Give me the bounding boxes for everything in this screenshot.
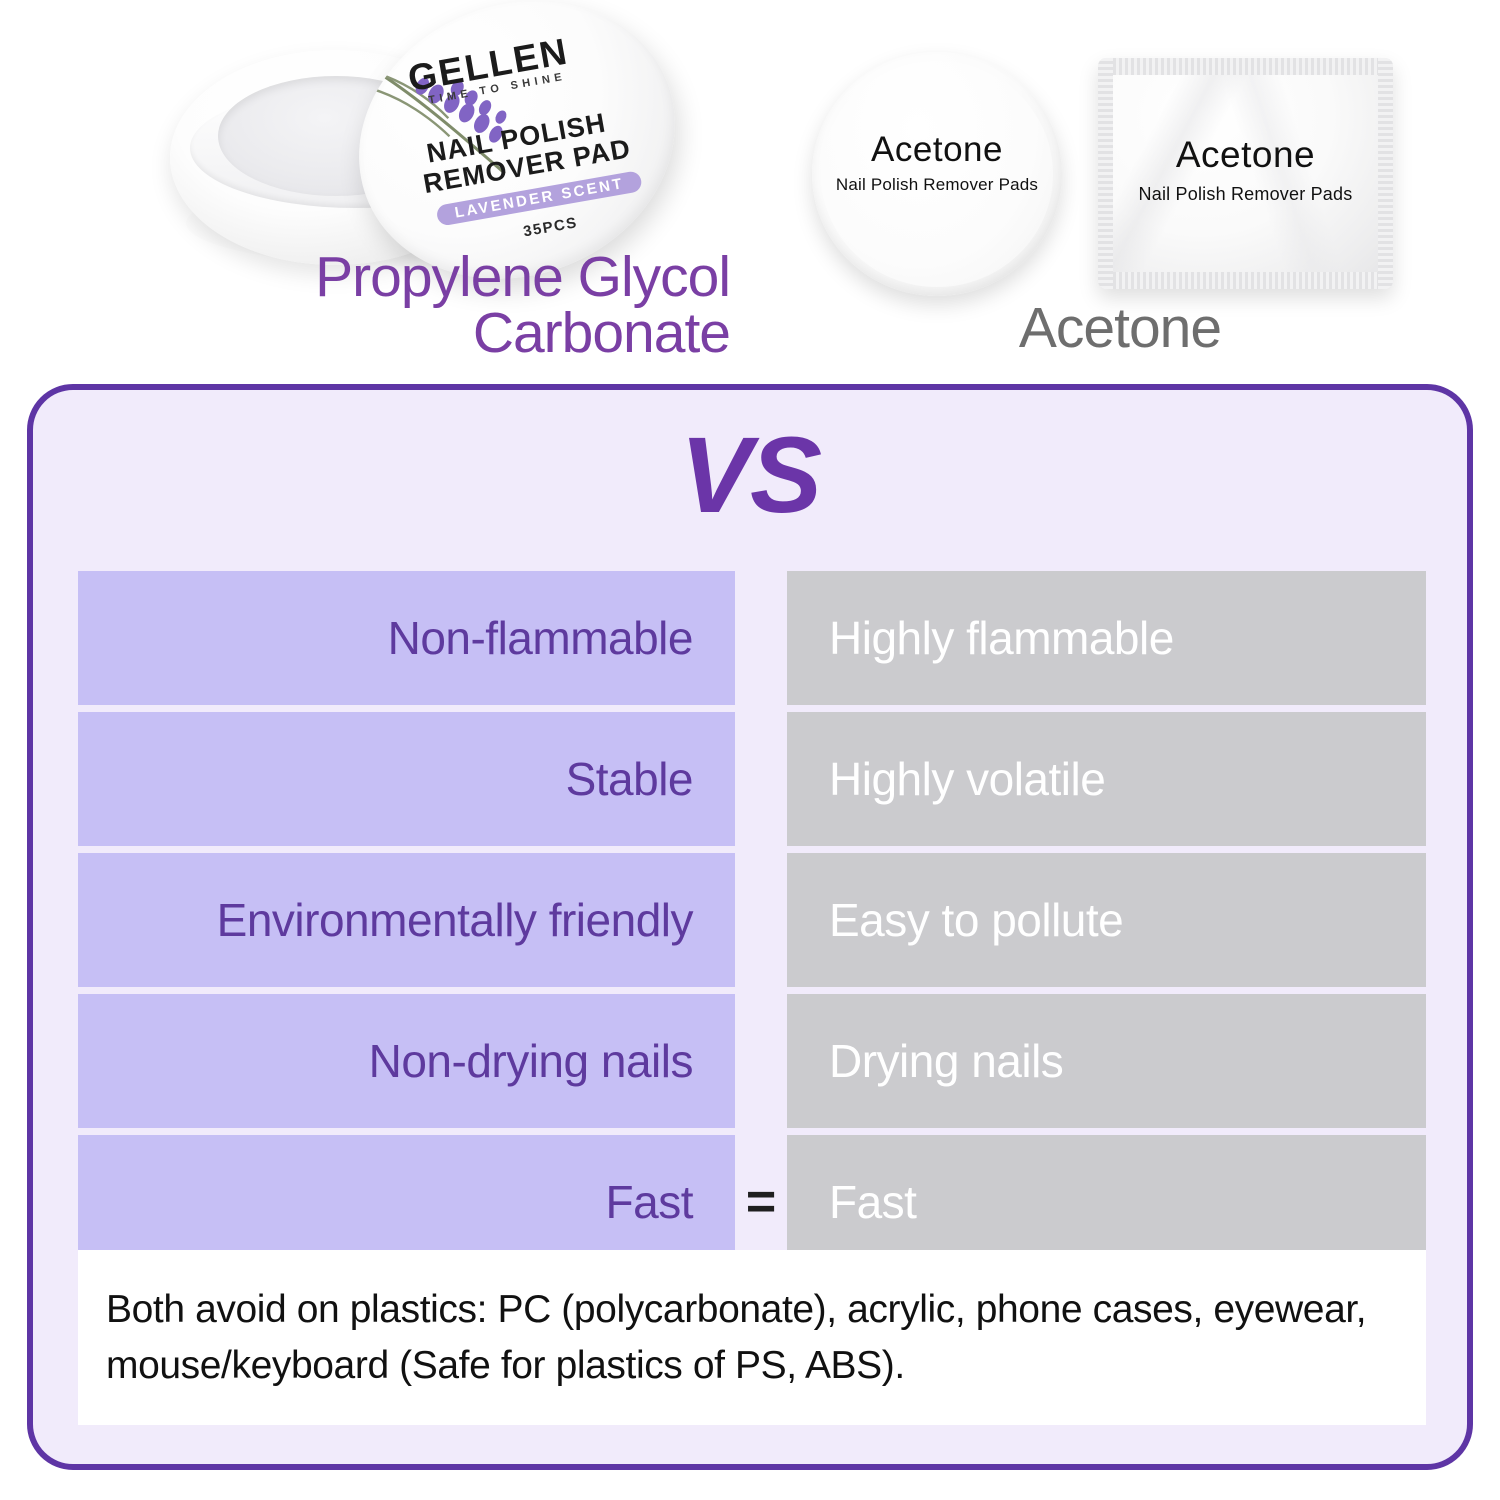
row-gap [735,853,787,987]
row-gap [735,994,787,1128]
acetone-round-jar-image: Acetone Nail Polish Remover Pads [812,52,1062,296]
row-left-cell: Environmentally friendly [78,853,735,987]
row-left-cell: Non-drying nails [78,994,735,1128]
comparison-table: Non-flammable Highly flammable Stable Hi… [78,571,1426,1269]
heading-propylene-glycol-carbonate: Propylene Glycol Carbonate [70,249,730,361]
acetone-sachet-subtitle: Nail Polish Remover Pads [1098,184,1393,205]
sachet-crimp-top [1098,58,1393,75]
table-row: Fast Fast = [78,1135,1426,1269]
acetone-sachet-image: Acetone Nail Polish Remover Pads [1098,58,1393,289]
sachet-crimp-bottom [1098,272,1393,289]
footer-note-box: Both avoid on plastics: PC (polycarbonat… [78,1250,1426,1425]
comparison-panel: VS Non-flammable Highly flammable Stable… [27,384,1473,1470]
gellen-jar-product-image: GELLEN TIME TO SHINE NAIL POLISH REMOVER… [150,5,710,270]
vs-label: VS [33,412,1467,537]
row-right-cell: Highly volatile [787,712,1426,846]
table-row: Non-flammable Highly flammable [78,571,1426,705]
table-row: Non-drying nails Drying nails [78,994,1426,1128]
row-right-cell: Highly flammable [787,571,1426,705]
product-hero-area: GELLEN TIME TO SHINE NAIL POLISH REMOVER… [0,0,1500,375]
table-row: Stable Highly volatile [78,712,1426,846]
acetone-sachet-title: Acetone [1098,134,1393,176]
table-row: Environmentally friendly Easy to pollute [78,853,1426,987]
row-gap [735,571,787,705]
footer-note-text: Both avoid on plastics: PC (polycarbonat… [106,1282,1422,1394]
row-gap [735,712,787,846]
row-right-cell: Drying nails [787,994,1426,1128]
row-right-cell: Easy to pollute [787,853,1426,987]
row-left-cell: Non-flammable [78,571,735,705]
heading-acetone: Acetone [840,300,1400,356]
row-right-cell: Fast [787,1135,1426,1269]
row-left-cell: Fast [78,1135,735,1269]
row-left-cell: Stable [78,712,735,846]
acetone-round-subtitle: Nail Polish Remover Pads [812,175,1062,195]
acetone-round-inner-face [821,61,1053,287]
jar-count-text: 35PCS [522,214,579,240]
acetone-round-title: Acetone [812,130,1062,170]
equals-sign-icon: = [735,1135,787,1269]
